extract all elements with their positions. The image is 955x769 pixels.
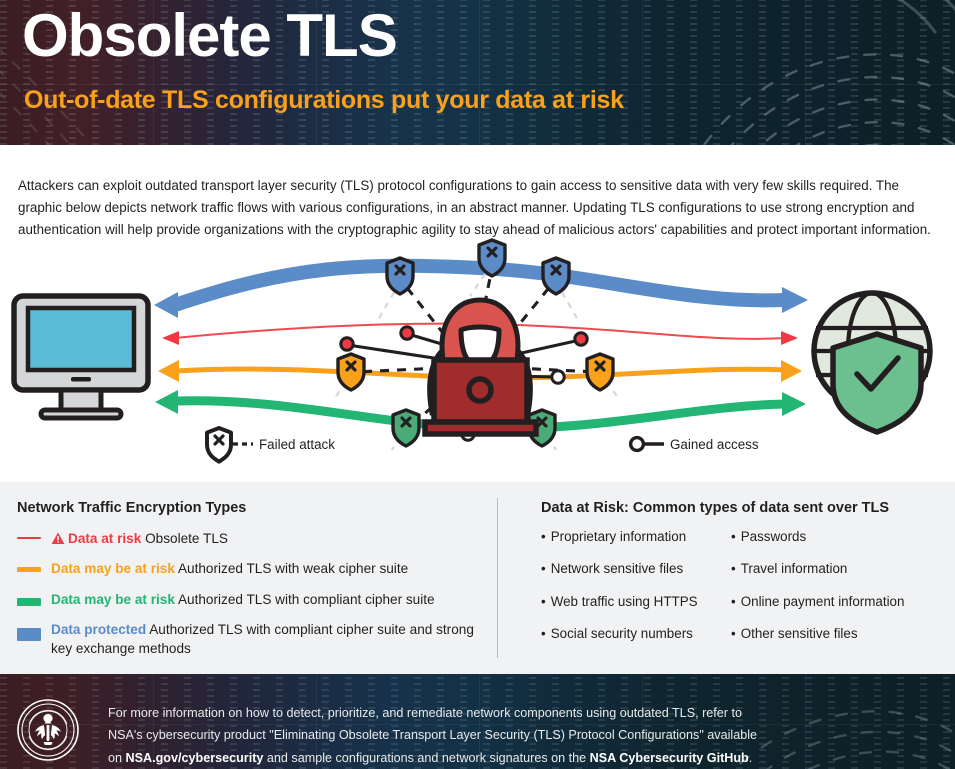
encryption-types-title: Network Traffic Encryption Types — [17, 500, 487, 516]
list-item: •Travel information — [731, 560, 941, 577]
footer-line-1: For more information on how to detect, p… — [108, 706, 742, 720]
footer-line-3-end: . — [749, 751, 753, 765]
footer-line-3-prefix: on — [108, 751, 126, 765]
footer-line-3-middle: and sample configurations and network si… — [263, 751, 589, 765]
nsa-github-link[interactable]: NSA Cybersecurity GitHub — [590, 751, 749, 765]
list-item: •Network sensitive files — [541, 560, 731, 577]
list-item: •Social security numbers — [541, 625, 731, 642]
page-title: Obsolete TLS — [22, 4, 397, 67]
column-divider — [497, 498, 498, 658]
fingerprint-pattern-icon — [595, 0, 955, 145]
diagram-legend-gained-access: Gained access — [631, 437, 759, 452]
globe-shield-icon — [814, 293, 930, 432]
legend-item-weak-cipher: Data may be at risk Authorized TLS with … — [17, 559, 487, 578]
shield-x-badge-blue-right — [543, 258, 569, 294]
list-item: •Passwords — [731, 528, 941, 545]
swatch-green — [17, 590, 51, 606]
legend-description: Authorized TLS with weak cipher suite — [178, 561, 408, 576]
footer-text: For more information on how to detect, p… — [108, 702, 908, 769]
list-item: •Other sensitive files — [731, 625, 941, 642]
shield-x-badge-orange-left — [338, 354, 364, 390]
intro-paragraph: Attackers can exploit outdated transport… — [18, 175, 936, 240]
swatch-orange — [17, 559, 51, 572]
network-traffic-diagram: Failed attack Gained access — [0, 238, 955, 466]
nsa-seal-icon — [16, 698, 80, 762]
footer-line-2: NSA's cybersecurity product "Eliminating… — [108, 728, 757, 742]
hacker-with-laptop-icon — [425, 300, 536, 434]
legend-description: Obsolete TLS — [145, 531, 228, 546]
legend-status: Data at risk — [68, 531, 141, 546]
encryption-types-section: Network Traffic Encryption Types Data at… — [17, 500, 487, 669]
list-item: •Online payment information — [731, 593, 941, 610]
legend-item-strong-key-exchange: Data protected Authorized TLS with compl… — [17, 620, 487, 659]
shield-x-badge-blue-center — [479, 240, 505, 276]
infographic-page: Obsolete TLS Out-of-date TLS configurati… — [0, 0, 955, 769]
list-item: •Web traffic using HTTPS — [541, 593, 731, 610]
shield-x-badge-orange-right — [587, 354, 613, 390]
page-header: Obsolete TLS Out-of-date TLS configurati… — [0, 0, 955, 145]
page-subtitle: Out-of-date TLS configurations put your … — [24, 86, 624, 115]
legend-item-obsolete-tls: Data at risk Obsolete TLS — [17, 529, 487, 548]
data-at-risk-column-right: •Passwords •Travel information •Online p… — [731, 528, 941, 658]
legend-description: Authorized TLS with compliant cipher sui… — [178, 592, 435, 607]
desktop-monitor-icon — [14, 296, 148, 418]
swatch-blue — [17, 620, 51, 641]
shield-x-badge-green-left — [393, 410, 419, 446]
nsa-cybersecurity-link[interactable]: NSA.gov/cybersecurity — [126, 751, 264, 765]
warning-triangle-icon — [51, 532, 65, 545]
failed-attack-label: Failed attack — [259, 437, 335, 452]
legend-item-compliant-cipher: Data may be at risk Authorized TLS with … — [17, 590, 487, 609]
data-at-risk-title: Data at Risk: Common types of data sent … — [541, 500, 941, 516]
data-at-risk-column-left: •Proprietary information •Network sensit… — [541, 528, 731, 658]
data-at-risk-section: Data at Risk: Common types of data sent … — [541, 500, 941, 658]
legend-status: Data may be at risk — [51, 592, 175, 607]
diagram-legend-failed-attack: Failed attack — [207, 428, 335, 462]
list-item: •Proprietary information — [541, 528, 731, 545]
gained-access-label: Gained access — [670, 437, 759, 452]
legend-status: Data protected — [51, 622, 146, 637]
legend-status: Data may be at risk — [51, 561, 175, 576]
shield-x-badge-blue-left — [387, 258, 413, 294]
swatch-red — [17, 529, 51, 539]
